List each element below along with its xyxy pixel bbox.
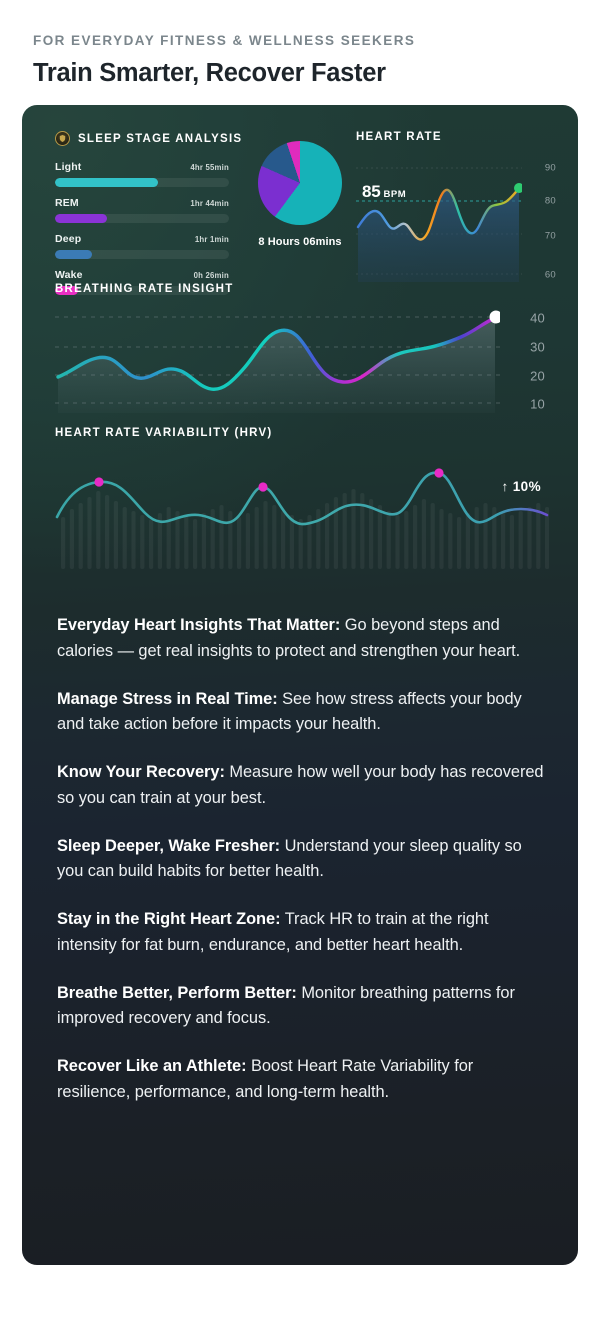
feature-label: Breathe Better, Perform Better: <box>57 984 297 1002</box>
feature-label: Stay in the Right Heart Zone: <box>57 910 280 928</box>
heart-rate-chart: 85BPM <box>356 156 556 282</box>
breathing-rate-chart: 40 30 20 10 <box>55 309 545 413</box>
breathing-rate-title: BREATHING RATE INSIGHT <box>55 283 545 295</box>
pie-graphic <box>258 141 342 225</box>
metrics-card: SLEEP STAGE ANALYSIS Light 4hr 55min <box>22 105 578 1265</box>
breathing-rate-panel: BREATHING RATE INSIGHT <box>55 283 545 413</box>
heart-rate-unit: BPM <box>384 189 407 200</box>
hrv-sparkline <box>55 451 549 569</box>
eyebrow-text: FOR EVERYDAY FITNESS & WELLNESS SEEKERS <box>22 33 578 48</box>
sleep-pie-chart: 8 Hours 06mins <box>254 141 346 248</box>
stage-label: Wake <box>55 269 83 281</box>
feature-item: Sleep Deeper, Wake Fresher: Understand y… <box>57 834 549 886</box>
stage-progress-track <box>55 178 229 187</box>
breathing-rate-y-axis: 40 30 20 10 <box>515 309 545 413</box>
feature-label: Manage Stress in Real Time: <box>57 690 278 708</box>
y-tick: 30 <box>530 340 545 355</box>
feature-label: Know Your Recovery: <box>57 763 225 781</box>
feature-item: Stay in the Right Heart Zone: Track HR t… <box>57 907 549 959</box>
feature-item: Manage Stress in Real Time: See how stre… <box>57 687 549 739</box>
y-tick: 40 <box>530 311 545 326</box>
y-tick: 80 <box>545 196 556 207</box>
y-tick: 90 <box>545 163 556 174</box>
sleep-stage-row-light: Light 4hr 55min <box>55 161 229 187</box>
stage-value: 1hr 44min <box>190 199 229 208</box>
y-tick: 20 <box>530 369 545 384</box>
heart-rate-readout: 85BPM <box>362 182 406 202</box>
hrv-panel: HEART RATE VARIABILITY (HRV) <box>55 427 549 569</box>
feature-item: Recover Like an Athlete: Boost Heart Rat… <box>57 1054 549 1106</box>
stage-label: Deep <box>55 233 81 245</box>
stage-label: REM <box>55 197 79 209</box>
stage-progress-fill <box>55 250 92 259</box>
heart-rate-panel: HEART RATE 85BPM <box>356 131 556 282</box>
sleep-stage-row-rem: REM 1hr 44min <box>55 197 229 223</box>
feature-item: Breathe Better, Perform Better: Monitor … <box>57 981 549 1033</box>
y-tick: 10 <box>530 397 545 412</box>
page-title: Train Smarter, Recover Faster <box>22 59 578 88</box>
breathing-rate-sparkline <box>55 309 500 413</box>
heart-rate-y-axis: 90 80 70 60 <box>528 156 556 282</box>
stage-progress-fill <box>55 214 107 223</box>
stage-progress-track <box>55 250 229 259</box>
feature-item: Everyday Heart Insights That Matter: Go … <box>57 613 549 665</box>
feature-label: Recover Like an Athlete: <box>57 1057 246 1075</box>
feature-list: Everyday Heart Insights That Matter: Go … <box>57 613 549 1106</box>
y-tick: 70 <box>545 231 556 242</box>
shield-badge-icon <box>55 131 70 146</box>
feature-label: Everyday Heart Insights That Matter: <box>57 616 340 634</box>
heart-rate-sparkline <box>356 156 522 282</box>
hrv-title: HEART RATE VARIABILITY (HRV) <box>55 427 549 439</box>
sleep-stage-row-deep: Deep 1hr 1min <box>55 233 229 259</box>
feature-item: Know Your Recovery: Measure how well you… <box>57 760 549 812</box>
stage-label: Light <box>55 161 81 173</box>
hrv-delta-indicator: ↑ 10% <box>501 479 541 494</box>
sleep-total-label: 8 Hours 06mins <box>254 236 346 248</box>
stage-progress-fill <box>55 178 158 187</box>
y-tick: 60 <box>545 270 556 281</box>
stage-value: 4hr 55min <box>190 163 229 172</box>
heart-rate-title: HEART RATE <box>356 131 556 143</box>
hrv-chart: ↑ 10% <box>55 451 549 569</box>
feature-label: Sleep Deeper, Wake Fresher: <box>57 837 280 855</box>
promo-page: FOR EVERYDAY FITNESS & WELLNESS SEEKERS … <box>0 33 600 1330</box>
heart-rate-value: 85 <box>362 182 381 201</box>
stage-progress-track <box>55 214 229 223</box>
sleep-stage-title: SLEEP STAGE ANALYSIS <box>78 133 242 145</box>
sleep-stage-list: Light 4hr 55min REM 1hr 44min <box>55 161 229 295</box>
stage-value: 0h 26min <box>194 271 229 280</box>
stage-value: 1hr 1min <box>195 235 229 244</box>
